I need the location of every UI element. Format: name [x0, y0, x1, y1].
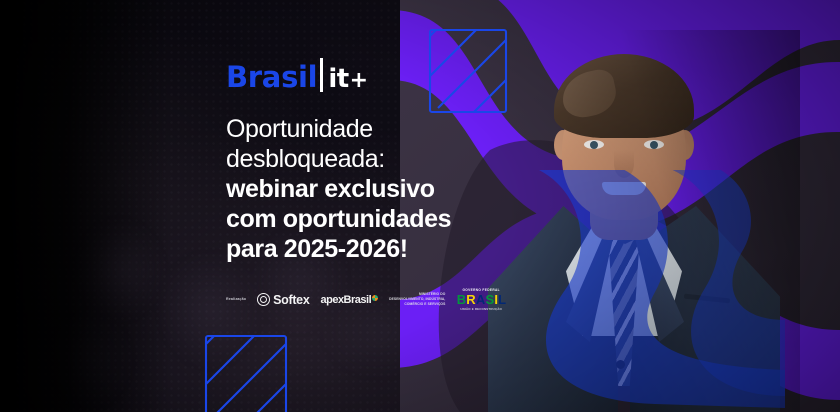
government-wordmark-letter: B: [456, 293, 466, 306]
government-wordmark-letter: R: [466, 293, 476, 306]
brasil-it-plus-logo[interactable]: Brasil it +: [226, 58, 496, 92]
apex-dot-icon: [372, 295, 378, 301]
headline-line-3: webinar exclusivo: [226, 174, 496, 204]
headline-line-4: com oportunidades: [226, 204, 496, 234]
government-wordmark: BRASIL: [456, 293, 506, 306]
apexbrasil-logo[interactable]: apexBrasil: [320, 294, 378, 306]
softex-logo[interactable]: Softex: [257, 293, 309, 307]
partner-logo-row: Realização Softex apexBrasil MINISTÉRIO …: [226, 288, 506, 311]
apexbrasil-label: apexBrasil: [320, 294, 371, 306]
headline-line-5: para 2025-2026!: [226, 234, 496, 264]
hatched-square-bottom-left: [204, 334, 288, 412]
headline-line-1: Oportunidade: [226, 114, 496, 144]
left-dark-fade: [0, 0, 170, 412]
logo-divider-bar: [320, 58, 323, 92]
headline: Oportunidade desbloqueada: webinar exclu…: [226, 114, 496, 264]
logo-text-brasil: Brasil: [226, 63, 317, 92]
ministry-wordmark: MINISTÉRIO DO DESENVOLVIMENTO, INDÚSTRIA…: [389, 292, 445, 307]
headline-line-2: desbloqueada:: [226, 144, 496, 174]
webinar-promo-banner: Brasil it + Oportunidade desbloqueada: w…: [0, 0, 840, 412]
realizacao-label: Realização: [226, 297, 246, 302]
ministry-line-3: COMÉRCIO E SERVIÇOS: [389, 302, 445, 307]
government-wordmark-letter: S: [485, 293, 494, 306]
logo-text-it: it: [328, 66, 348, 92]
government-logo: GOVERNO FEDERAL BRASIL UNIÃO E RECONSTRU…: [456, 288, 506, 311]
government-wordmark-letter: A: [476, 293, 486, 306]
logo-text-plus: +: [350, 70, 368, 92]
softex-label: Softex: [273, 293, 309, 307]
government-wordmark-letter: L: [498, 293, 506, 306]
softex-emblem-icon: [257, 293, 270, 306]
government-bottom-label: UNIÃO E RECONSTRUÇÃO: [460, 307, 502, 311]
content-column: Brasil it + Oportunidade desbloqueada: w…: [226, 58, 496, 264]
